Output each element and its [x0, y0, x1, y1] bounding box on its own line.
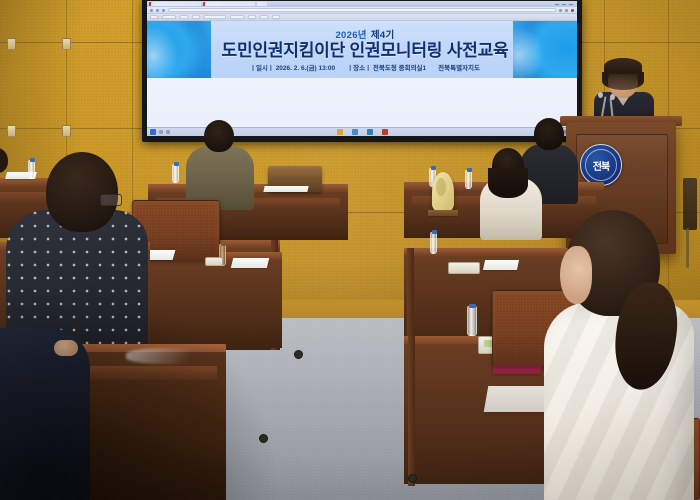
zoom-in-icon[interactable] — [192, 15, 200, 19]
start-icon[interactable] — [150, 129, 156, 135]
paper-back-center — [263, 186, 308, 192]
sidebar-toggle-icon[interactable] — [150, 15, 158, 19]
pdf-toolbar[interactable] — [147, 14, 577, 21]
sculpture-base — [428, 210, 458, 216]
banner-term: 제4기 — [371, 30, 395, 41]
attendee-front-left-hand — [54, 340, 78, 356]
handout-mid-right — [483, 260, 519, 270]
banner-meta-venue: ㅣ장소ㅣ 전북도청 중회의실1 — [347, 62, 426, 72]
banner-meta: ㅣ일시ㅣ 2026. 2. 6.(금) 13:00 ㅣ장소ㅣ 전북도청 중회의실… — [250, 62, 480, 72]
browser-tab-1[interactable] — [149, 2, 201, 6]
lunch-container-right — [448, 262, 480, 274]
task-view-icon[interactable] — [166, 130, 170, 134]
banner-subtitle-line: 2026년제4기 — [335, 27, 394, 41]
projection-screen: 2026년제4기 도민인권지킴이단 인권모니터링 사전교육 ㅣ일시ㅣ 2026.… — [142, 0, 582, 142]
window-controls[interactable] — [555, 4, 575, 5]
microphone-head-1 — [598, 92, 603, 98]
emblem-label: 전북 — [593, 158, 609, 173]
water-bottle-right-b — [465, 170, 472, 189]
browser-new-tab-button[interactable] — [257, 2, 267, 6]
profile-icon[interactable] — [565, 9, 568, 12]
url-input[interactable] — [168, 8, 556, 12]
minimize-icon — [555, 4, 559, 5]
attendee-olive-head — [204, 120, 234, 152]
attendee-front-right-face — [560, 246, 592, 304]
browser-address-bar[interactable] — [147, 7, 577, 14]
attendee-left-head — [46, 152, 118, 232]
water-bottle-back-center — [172, 164, 179, 183]
conference-room-photo: 2026년제4기 도민인권지킴이단 인권모니터링 사전교육 ㅣ일시ㅣ 2026.… — [0, 0, 700, 500]
maximize-icon — [562, 4, 566, 5]
speaker-hair-front — [604, 58, 642, 74]
lunch-container-mid — [205, 257, 223, 266]
taskbar-edge-icon[interactable] — [367, 129, 373, 135]
zoom-out-icon[interactable] — [180, 15, 188, 19]
cable — [686, 228, 689, 268]
water-bottle-front-right-a — [467, 306, 477, 336]
forward-icon[interactable] — [156, 9, 159, 12]
yellow-sculpture — [432, 172, 454, 212]
navy-jacket — [0, 328, 90, 500]
taskbar-explorer-icon[interactable] — [337, 129, 343, 135]
wall-speaker-icon — [683, 178, 697, 230]
banner-organization: 전북특별자치도 — [438, 62, 480, 72]
banner-meta-datetime: ㅣ일시ㅣ 2026. 2. 6.(금) 13:00 — [250, 62, 335, 72]
desk-caster-2 — [294, 350, 303, 359]
search-icon[interactable] — [159, 130, 163, 134]
slide-canvas: 2026년제4기 도민인권지킴이단 인권모니터링 사전교육 ㅣ일시ㅣ 2026.… — [147, 21, 577, 136]
banner-year: 2026년 — [335, 30, 366, 41]
banner-title: 도민인권지킴이단 인권모니터링 사전교육 — [222, 42, 509, 60]
reload-icon[interactable] — [162, 9, 165, 12]
download-icon[interactable] — [272, 15, 280, 19]
back-icon[interactable] — [150, 9, 153, 12]
jeonbuk-emblem-icon: 전북 — [580, 144, 622, 186]
page-number-field[interactable] — [162, 15, 176, 19]
browser-tab-2[interactable] — [203, 2, 255, 6]
fit-page-button[interactable] — [230, 15, 244, 19]
desk-caster-3 — [408, 474, 417, 483]
slide-banner: 2026년제4기 도민인권지킴이단 인권모니터링 사전교육 ㅣ일시ㅣ 2026.… — [147, 21, 577, 78]
banner-wave-left-icon — [147, 21, 211, 78]
attendee-left-ear-glasses-icon — [100, 194, 122, 206]
handout-mid-center — [231, 258, 269, 268]
menu-icon[interactable] — [571, 9, 574, 12]
water-bottle-back-left — [28, 160, 35, 179]
print-icon[interactable] — [260, 15, 268, 19]
water-bottle-mid-right — [430, 232, 437, 254]
rotate-icon[interactable] — [248, 15, 256, 19]
handout-mid-left — [147, 250, 176, 260]
star-icon[interactable] — [559, 9, 562, 12]
taskbar-pdf-icon[interactable] — [382, 129, 388, 135]
taskbar-chrome-icon[interactable] — [352, 129, 358, 135]
zoom-level-select[interactable] — [204, 15, 226, 19]
desk-caster-1 — [259, 434, 268, 443]
close-icon — [569, 4, 573, 5]
